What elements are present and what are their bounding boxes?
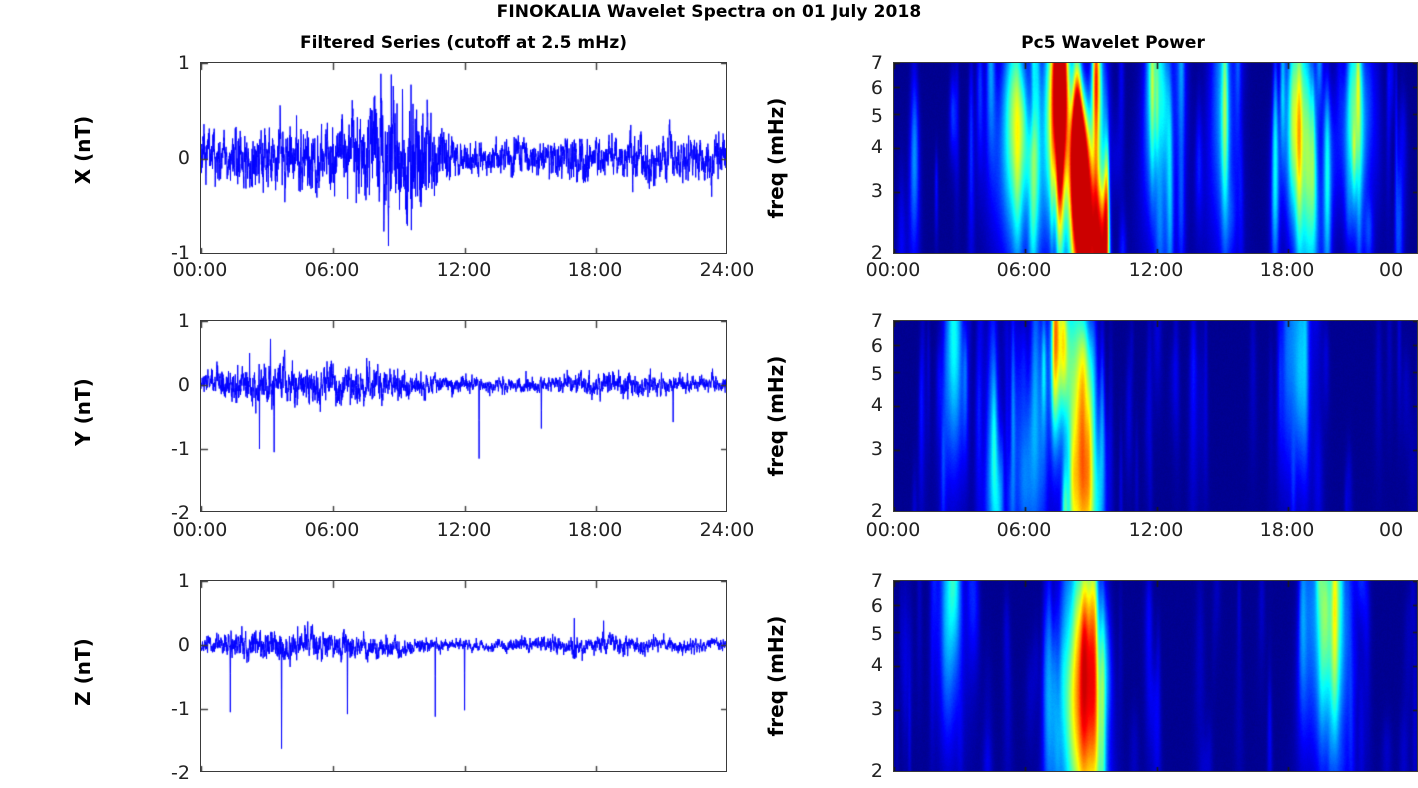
y-ytick-0: 0 <box>150 374 190 396</box>
x-spec-ytick-4: 4 <box>843 136 883 158</box>
x-ytick-0: 0 <box>150 147 190 169</box>
right-column-title: Pc5 Wavelet Power <box>893 33 1333 53</box>
z-spectro-ylabel: freq (mHz) <box>764 591 788 761</box>
y-axis-ylabel: Y (nT) <box>71 352 95 472</box>
x-axis-ylabel: X (nT) <box>71 90 95 210</box>
z-spec-ytick-3: 3 <box>843 698 883 720</box>
z-ytick-m1: -1 <box>144 698 190 720</box>
z-spec-ytick-7: 7 <box>843 570 883 592</box>
xs-xtick-0: 00:00 <box>853 259 933 281</box>
x-filtered-series-plot <box>200 62 727 254</box>
x-wavelet-power-plot <box>893 62 1418 254</box>
xs-xtick-18: 18:00 <box>1247 259 1327 281</box>
x-spec-ytick-3: 3 <box>843 180 883 202</box>
z-filtered-series-plot <box>200 580 727 772</box>
x-xtick-24: 24:00 <box>687 259 767 281</box>
y-wavelet-power-plot <box>893 320 1418 512</box>
ys-xtick-18: 18:00 <box>1247 519 1327 541</box>
z-ytick-0: 0 <box>150 634 190 656</box>
x-xtick-6: 06:00 <box>292 259 372 281</box>
y-ytick-1: 1 <box>150 310 190 332</box>
ys-xtick-6: 06:00 <box>984 519 1064 541</box>
y-xtick-0: 00:00 <box>160 519 240 541</box>
x-xtick-18: 18:00 <box>555 259 635 281</box>
x-ytick-1: 1 <box>150 52 190 74</box>
z-ytick-m2: -2 <box>144 762 190 784</box>
figure-canvas: FINOKALIA Wavelet Spectra on 01 July 201… <box>0 0 1418 788</box>
y-xtick-18: 18:00 <box>555 519 635 541</box>
y-xtick-24: 24:00 <box>687 519 767 541</box>
figure-suptitle: FINOKALIA Wavelet Spectra on 01 July 201… <box>0 2 1418 22</box>
z-ytick-1: 1 <box>150 570 190 592</box>
z-spec-ytick-5: 5 <box>843 623 883 645</box>
x-spec-ytick-7: 7 <box>843 52 883 74</box>
ys-xtick-24: 00 <box>1379 519 1418 541</box>
y-xtick-6: 06:00 <box>292 519 372 541</box>
y-xtick-12: 12:00 <box>424 519 504 541</box>
z-wavelet-power-plot <box>893 580 1418 772</box>
y-spec-ytick-3: 3 <box>843 438 883 460</box>
y-ytick-m1: -1 <box>144 438 190 460</box>
y-spec-ytick-4: 4 <box>843 394 883 416</box>
ys-xtick-0: 00:00 <box>853 519 933 541</box>
xs-xtick-12: 12:00 <box>1116 259 1196 281</box>
x-xtick-0: 00:00 <box>160 259 240 281</box>
xs-xtick-6: 06:00 <box>984 259 1064 281</box>
y-spec-ytick-7: 7 <box>843 310 883 332</box>
x-spectro-ylabel: freq (mHz) <box>764 73 788 243</box>
ys-xtick-12: 12:00 <box>1116 519 1196 541</box>
z-spec-ytick-4: 4 <box>843 654 883 676</box>
z-spec-ytick-6: 6 <box>843 595 883 617</box>
x-spec-ytick-6: 6 <box>843 77 883 99</box>
x-spec-ytick-5: 5 <box>843 105 883 127</box>
y-spec-ytick-6: 6 <box>843 335 883 357</box>
z-spec-ytick-2: 2 <box>843 760 883 782</box>
y-spec-ytick-5: 5 <box>843 363 883 385</box>
left-column-title: Filtered Series (cutoff at 2.5 mHz) <box>200 33 727 53</box>
x-xtick-12: 12:00 <box>424 259 504 281</box>
xs-xtick-24: 00 <box>1379 259 1418 281</box>
y-filtered-series-plot <box>200 320 727 512</box>
y-spectro-ylabel: freq (mHz) <box>764 331 788 501</box>
z-axis-ylabel: Z (nT) <box>71 612 95 732</box>
